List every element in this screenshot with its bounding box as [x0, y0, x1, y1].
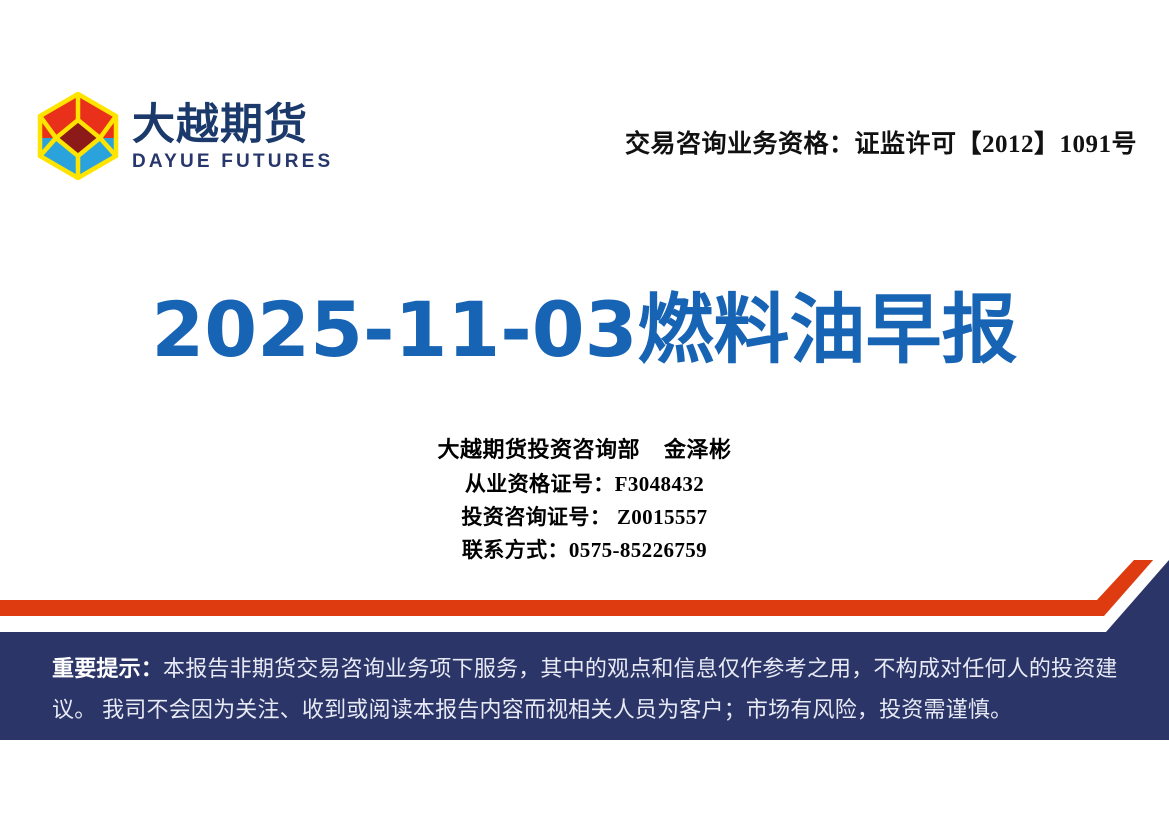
- company-logo: 大越期货 DAYUE FUTURES: [36, 92, 333, 180]
- license-statement: 交易咨询业务资格：证监许可【2012】1091号: [625, 128, 1137, 162]
- disclaimer-banner: 重要提示：本报告非期货交易咨询业务项下服务，其中的观点和信息仅作参考之用，不构成…: [0, 560, 1169, 745]
- logo-company-name-en: DAYUE FUTURES: [132, 151, 333, 173]
- logo-wordmark: 大越期货 DAYUE FUTURES: [132, 101, 333, 173]
- author-practice-certificate: 从业资格证号：F3048432: [0, 468, 1169, 501]
- author-block: 大越期货投资咨询部 金泽彬 从业资格证号：F3048432 投资咨询证号： Z0…: [0, 432, 1169, 567]
- slide-page: 大越期货 DAYUE FUTURES 交易咨询业务资格：证监许可【2012】10…: [0, 0, 1169, 826]
- disclaimer-text: 重要提示：本报告非期货交易咨询业务项下服务，其中的观点和信息仅作参考之用，不构成…: [52, 648, 1132, 730]
- header: 大越期货 DAYUE FUTURES 交易咨询业务资格：证监许可【2012】10…: [0, 0, 1169, 200]
- author-department-and-name: 大越期货投资咨询部 金泽彬: [0, 432, 1169, 468]
- author-consulting-certificate: 投资咨询证号： Z0015557: [0, 501, 1169, 534]
- logo-company-name-cn: 大越期货: [132, 101, 333, 149]
- disclaimer-label: 重要提示：: [52, 656, 163, 681]
- hexagon-cube-logo-icon: [36, 92, 120, 180]
- page-title: 2025-11-03燃料油早报: [0, 282, 1169, 378]
- disclaimer-body: 本报告非期货交易咨询业务项下服务，其中的观点和信息仅作参考之用，不构成对任何人的…: [52, 656, 1118, 722]
